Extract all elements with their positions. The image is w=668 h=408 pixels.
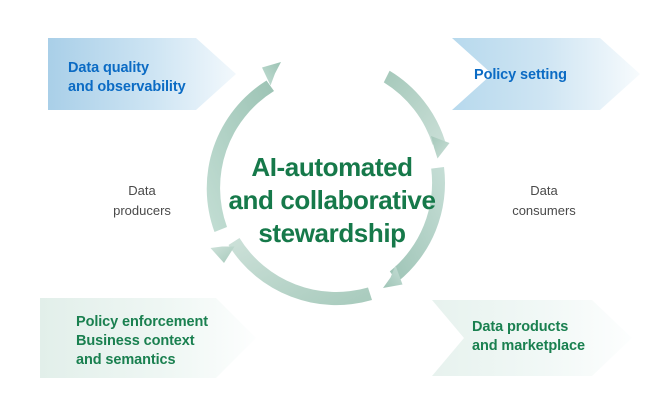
side-label-right-line1: Data — [530, 183, 558, 198]
center-label-line1: AI-automated — [251, 152, 412, 182]
chevron-policy-enforcement-business-context[interactable]: Policy enforcement Business context and … — [40, 298, 256, 378]
chevron-label-bottom-left-line1: Policy enforcement — [76, 314, 208, 330]
chevron-label-bottom-right-line1: Data products — [472, 319, 568, 335]
side-label-right-line2: consumers — [512, 203, 576, 218]
chevron-data-products-and-marketplace[interactable]: Data products and marketplace — [432, 300, 632, 376]
cycle-ring — [207, 62, 450, 305]
chevron-data-quality-and-observability[interactable]: Data quality and observability — [48, 38, 236, 110]
side-label-data-consumers: Data consumers — [512, 183, 576, 218]
chevron-label-bottom-left-line3: and semantics — [76, 352, 175, 368]
chevron-label-top-right-line1: Policy setting — [474, 67, 567, 83]
stewardship-cycle-diagram: Data quality and observability Policy se… — [0, 0, 668, 408]
ring-segment-1 — [384, 71, 450, 159]
center-label-line2: and collaborative — [228, 185, 435, 215]
ring-arrowhead-3 — [211, 247, 235, 264]
chevron-label-top-left-line2: and observability — [68, 79, 186, 95]
ring-arc-1 — [384, 71, 445, 145]
chevron-label-top-left-line1: Data quality — [68, 60, 149, 76]
center-text-block: AI-automated and collaborative stewardsh… — [228, 152, 435, 248]
side-label-data-producers: Data producers — [113, 183, 171, 218]
side-label-left-line2: producers — [113, 203, 171, 218]
side-label-left-line1: Data — [128, 183, 156, 198]
center-label-line3: stewardship — [258, 218, 405, 248]
chevron-label-bottom-right-line2: and marketplace — [472, 338, 585, 354]
chevron-label-bottom-left-line2: Business context — [76, 333, 195, 349]
chevron-policy-setting[interactable]: Policy setting — [452, 38, 640, 110]
ring-arc-3 — [229, 238, 373, 305]
ring-segment-3 — [211, 238, 373, 305]
